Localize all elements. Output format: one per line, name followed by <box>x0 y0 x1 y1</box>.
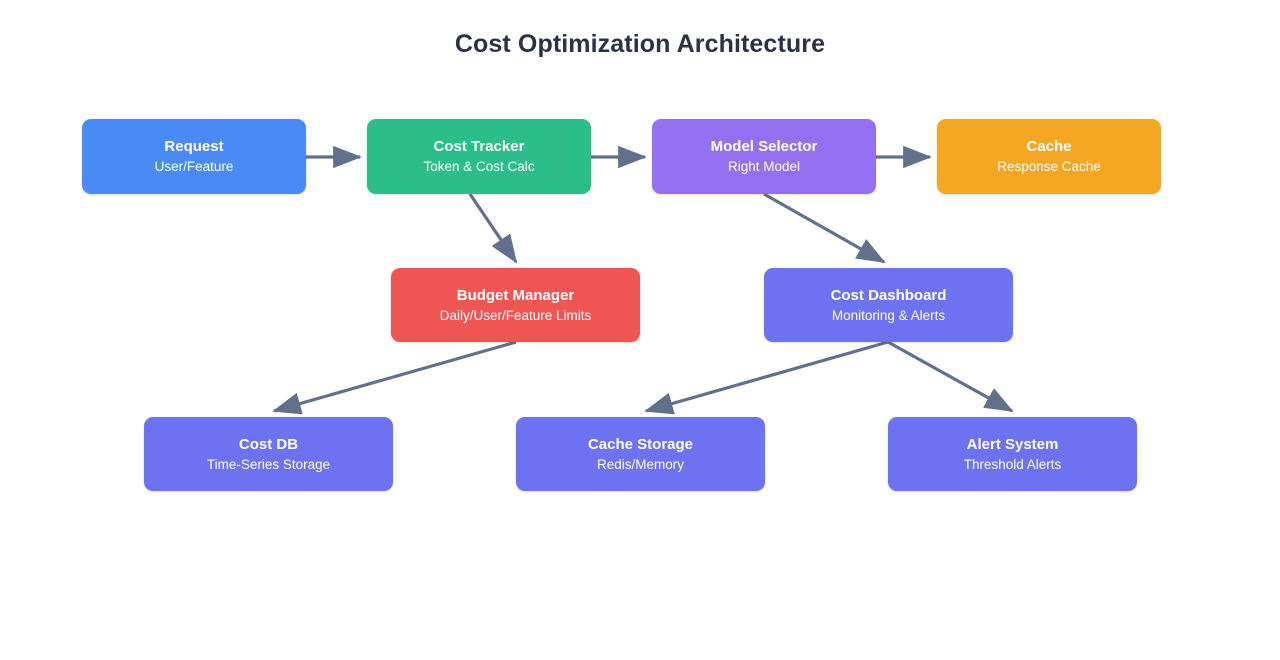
node-title: Budget Manager <box>457 287 575 304</box>
node-title: Cache Storage <box>588 436 693 453</box>
node-cost-tracker[interactable]: Cost TrackerToken & Cost Calc <box>367 119 591 194</box>
node-title: Request <box>164 138 223 155</box>
arrow-cost-dashboard-to-alert-system <box>888 342 1012 411</box>
node-cost-db[interactable]: Cost DBTime-Series Storage <box>144 417 393 491</box>
arrow-cost-dashboard-to-cache-storage <box>646 342 888 411</box>
node-title: Cost Dashboard <box>831 287 947 304</box>
node-cache-storage[interactable]: Cache StorageRedis/Memory <box>516 417 765 491</box>
node-subtitle: User/Feature <box>155 159 234 175</box>
arrow-budget-manager-to-cost-db <box>274 342 516 411</box>
connector-layer <box>0 0 1280 660</box>
node-title: Model Selector <box>711 138 818 155</box>
node-subtitle: Right Model <box>728 159 800 175</box>
diagram-canvas: Cost Optimization Architecture RequestUs… <box>0 0 1280 660</box>
node-subtitle: Response Cache <box>997 159 1101 175</box>
node-title: Alert System <box>967 436 1059 453</box>
node-cache[interactable]: CacheResponse Cache <box>937 119 1161 194</box>
arrow-model-selector-to-cost-dashboard <box>764 194 884 262</box>
node-model-selector[interactable]: Model SelectorRight Model <box>652 119 876 194</box>
node-subtitle: Token & Cost Calc <box>423 159 534 175</box>
node-title: Cost DB <box>239 436 298 453</box>
node-budget-manager[interactable]: Budget ManagerDaily/User/Feature Limits <box>391 268 640 342</box>
node-subtitle: Redis/Memory <box>597 457 684 473</box>
node-cost-dashboard[interactable]: Cost DashboardMonitoring & Alerts <box>764 268 1013 342</box>
node-subtitle: Threshold Alerts <box>964 457 1062 473</box>
node-title: Cost Tracker <box>434 138 525 155</box>
node-subtitle: Time-Series Storage <box>207 457 330 473</box>
node-subtitle: Monitoring & Alerts <box>832 308 945 324</box>
arrow-cost-tracker-to-budget-manager <box>470 194 516 262</box>
node-alert-system[interactable]: Alert SystemThreshold Alerts <box>888 417 1137 491</box>
node-title: Cache <box>1026 138 1071 155</box>
node-request[interactable]: RequestUser/Feature <box>82 119 306 194</box>
node-subtitle: Daily/User/Feature Limits <box>440 308 592 324</box>
